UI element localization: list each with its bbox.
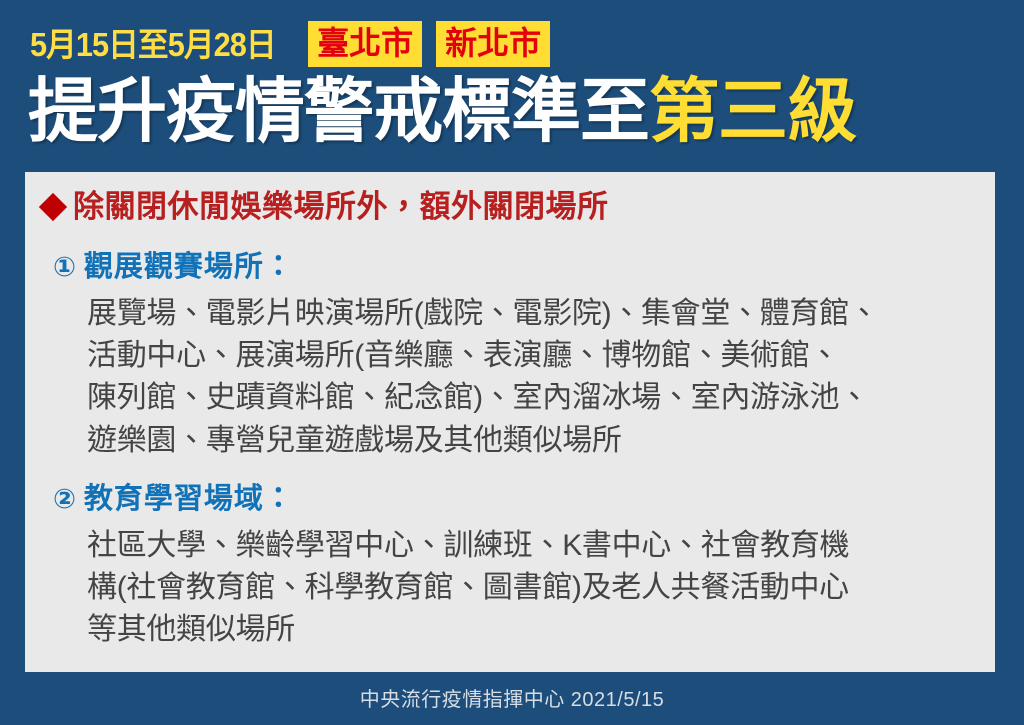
panel-heading-text: 除關閉休閒娛樂場所外，額外關閉場所 (73, 188, 609, 225)
content-panel: 除關閉休閒娛樂場所外，額外關閉場所 ①觀展觀賽場所： 展覽場、電影片映演場所(戲… (25, 172, 995, 672)
section-title: ①觀展觀賽場所： (25, 250, 1024, 285)
panel-heading: 除關閉休閒娛樂場所外，額外關閉場所 (41, 188, 609, 225)
diamond-bullet-icon (39, 192, 67, 220)
section-number: ② (53, 484, 77, 514)
section-body: 社區大學、樂齡學習中心、訓練班、K書中心、社會教育機 構(社會教育館、科學教育館… (25, 525, 1024, 652)
body-line: 等其他類似場所 (87, 609, 1024, 651)
body-line: 陳列館、史蹟資料館、紀念館)、室內溜冰場、室內游泳池、 (87, 377, 1024, 419)
page-title-main: 提升疫情警戒標準至 (28, 72, 649, 150)
body-line: 社區大學、樂齡學習中心、訓練班、K書中心、社會教育機 (87, 525, 1024, 567)
section-body: 展覽場、電影片映演場所(戲院、電影院)、集會堂、體育館、 活動中心、展演場所(音… (25, 293, 1024, 462)
body-line: 構(社會教育館、科學教育館、圖書館)及老人共餐活動中心 (87, 567, 1024, 609)
section-number: ① (53, 252, 77, 282)
body-line: 活動中心、展演場所(音樂廳、表演廳、博物館、美術館、 (87, 335, 1024, 377)
section-education-venues: ②教育學習場域： 社區大學、樂齡學習中心、訓練班、K書中心、社會教育機 構(社會… (25, 482, 1024, 652)
page-title-highlight: 第三級 (649, 72, 856, 150)
section-title-text: 觀展觀賽場所： (84, 251, 294, 283)
section-exhibition-venues: ①觀展觀賽場所： 展覽場、電影片映演場所(戲院、電影院)、集會堂、體育館、 活動… (25, 250, 1024, 462)
body-line: 遊樂園、專營兒童遊戲場及其他類似場所 (87, 420, 1024, 462)
city-badge-taipei: 臺北市 (308, 21, 422, 67)
date-range-label: 5月15日至5月28日 (30, 28, 276, 61)
page-title: 提升疫情警戒標準至第三級 (28, 74, 856, 150)
city-badge-new-taipei: 新北市 (436, 21, 550, 67)
body-line: 展覽場、電影片映演場所(戲院、電影院)、集會堂、體育館、 (87, 293, 1024, 335)
header-row: 5月15日至5月28日 臺北市 新北市 (30, 20, 550, 68)
poster-canvas: 5月15日至5月28日 臺北市 新北市 提升疫情警戒標準至第三級 除關閉休閒娛樂… (0, 0, 1024, 725)
section-title-text: 教育學習場域： (84, 483, 294, 515)
footer-attribution: 中央流行疫情指揮中心 2021/5/15 (0, 683, 1024, 712)
section-title: ②教育學習場域： (25, 482, 1024, 517)
